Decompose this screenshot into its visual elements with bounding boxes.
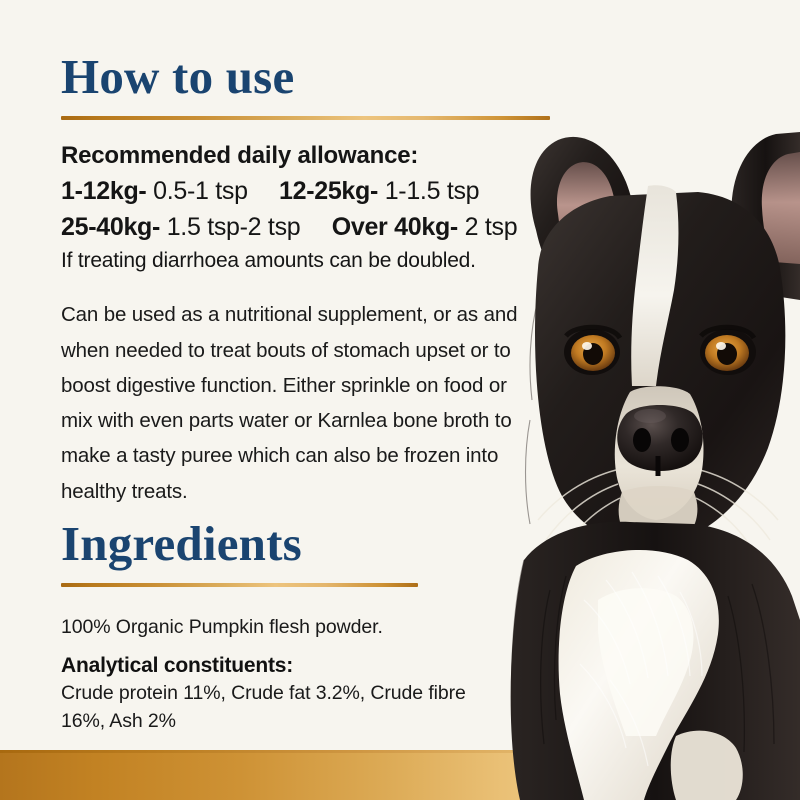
- dosage-weight: Over 40kg-: [332, 213, 458, 241]
- recommended-allowance-heading: Recommended daily allowance:: [61, 142, 531, 170]
- dosage-amount: 0.5-1 tsp: [153, 177, 248, 205]
- ingredients-list: 100% Organic Pumpkin flesh powder.: [61, 613, 531, 642]
- analytical-constituents-heading: Analytical constituents:: [61, 654, 531, 678]
- usage-description: Can be used as a nutritional supplement,…: [61, 297, 523, 509]
- divider-how-to-use: [61, 116, 550, 120]
- dosage-row: 1-12kg- 0.5-1 tsp 12-25kg- 1-1.5 tsp: [61, 174, 531, 210]
- dosage-amount: 1.5 tsp-2 tsp: [167, 213, 301, 241]
- product-info-panel: How to use Recommended daily allowance: …: [0, 0, 800, 800]
- dosage-weight: 12-25kg-: [279, 177, 378, 205]
- diarrhoea-note: If treating diarrhoea amounts can be dou…: [61, 247, 531, 275]
- dosage-amount: 1-1.5 tsp: [385, 177, 480, 205]
- dosage-weight: 1-12kg-: [61, 177, 146, 205]
- dosage-table: 1-12kg- 0.5-1 tsp 12-25kg- 1-1.5 tsp 25-…: [61, 174, 531, 245]
- page-title-ingredients: Ingredients: [61, 509, 531, 568]
- content-column: How to use Recommended daily allowance: …: [61, 0, 531, 735]
- divider-ingredients: [61, 583, 418, 587]
- dosage-amount: 2 tsp: [465, 213, 518, 241]
- page-title-how-to-use: How to use: [61, 0, 531, 101]
- dosage-row: 25-40kg- 1.5 tsp-2 tsp Over 40kg- 2 tsp: [61, 210, 531, 246]
- dosage-weight: 25-40kg-: [61, 213, 160, 241]
- footer-gold-band: [0, 753, 800, 800]
- analytical-constituents-values: Crude protein 11%, Crude fat 3.2%, Crude…: [61, 680, 491, 735]
